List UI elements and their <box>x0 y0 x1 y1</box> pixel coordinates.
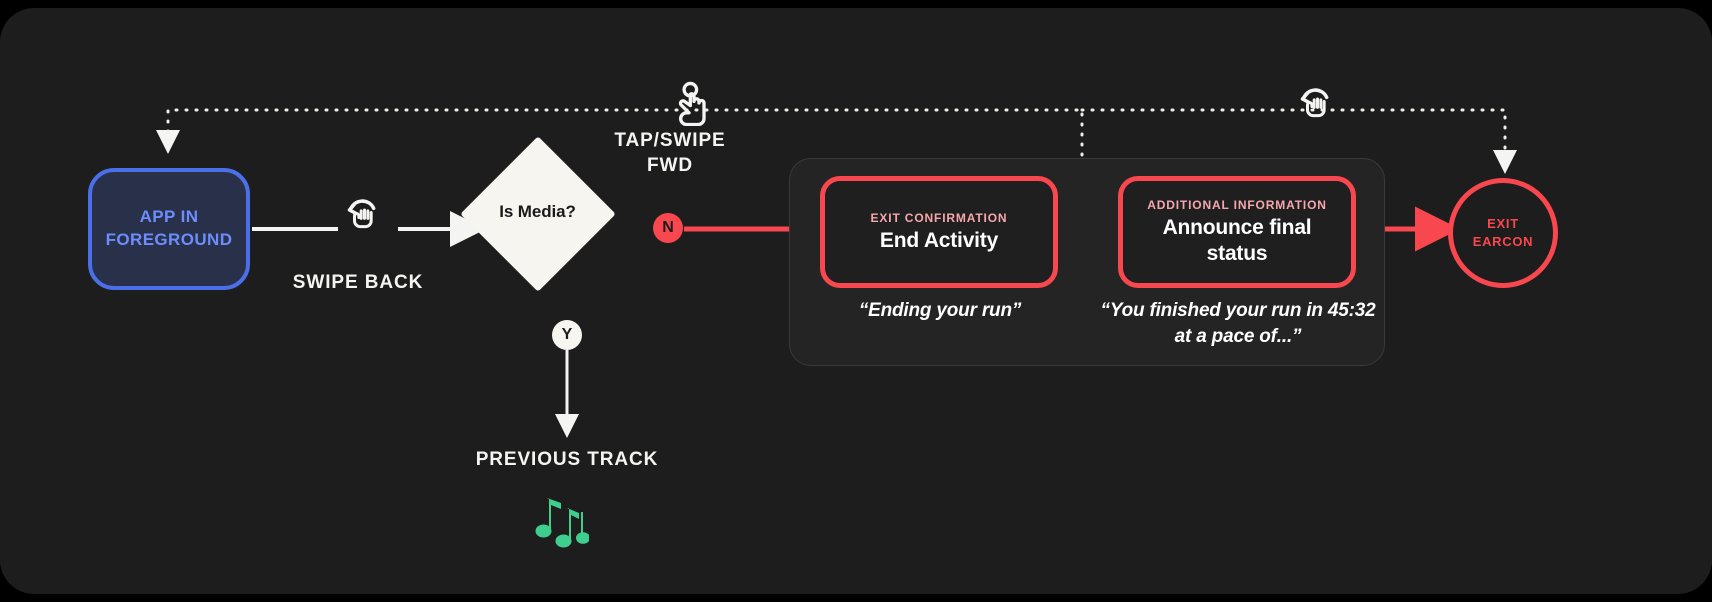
earcon-line1: EXIT <box>1487 216 1519 231</box>
swipe-back-gesture-icon <box>342 195 382 240</box>
app-node-label: APP IN FOREGROUND <box>106 206 233 252</box>
tap-swipe-line1: TAP/SWIPE <box>614 130 725 151</box>
card-kicker: ADDITIONAL INFORMATION <box>1147 198 1327 212</box>
edge-label-swipe-back: SWIPE BACK <box>238 270 478 295</box>
card-exit-confirmation[interactable]: EXIT CONFIRMATION End Activity <box>820 176 1058 288</box>
app-node-line1: APP IN <box>140 207 199 226</box>
earcon-label: EXIT EARCON <box>1473 215 1534 250</box>
branch-badge-no: N <box>653 213 683 243</box>
node-app-in-foreground[interactable]: APP IN FOREGROUND <box>88 168 250 290</box>
swipe-back-gesture-icon-top <box>1295 84 1335 129</box>
edge-label-tap-swipe-fwd: TAP/SWIPE FWD <box>580 128 760 178</box>
card-kicker: EXIT CONFIRMATION <box>871 211 1008 225</box>
node-exit-earcon[interactable]: EXIT EARCON <box>1448 178 1558 288</box>
music-notes-icon <box>527 494 589 555</box>
decision-label: Is Media? <box>460 202 615 222</box>
card-quote-exit-confirmation: “Ending your run” <box>800 298 1080 324</box>
branch-badge-yes: Y <box>552 320 582 350</box>
diagram-canvas: APP IN FOREGROUND Is Media? N Y SWIPE BA… <box>0 0 1712 602</box>
edge-label-previous-track: PREVIOUS TRACK <box>422 447 712 472</box>
tap-swipe-gesture-icon <box>672 80 712 131</box>
app-node-line2: FOREGROUND <box>106 230 233 249</box>
card-additional-information[interactable]: ADDITIONAL INFORMATION Announce final st… <box>1118 176 1356 288</box>
card-quote-additional-information: “You finished your run in 45:32 at a pac… <box>1098 298 1378 349</box>
earcon-line2: EARCON <box>1473 234 1534 249</box>
tap-swipe-line2: FWD <box>647 155 693 176</box>
card-title: Announce final status <box>1135 215 1339 265</box>
card-title: End Activity <box>880 228 998 253</box>
